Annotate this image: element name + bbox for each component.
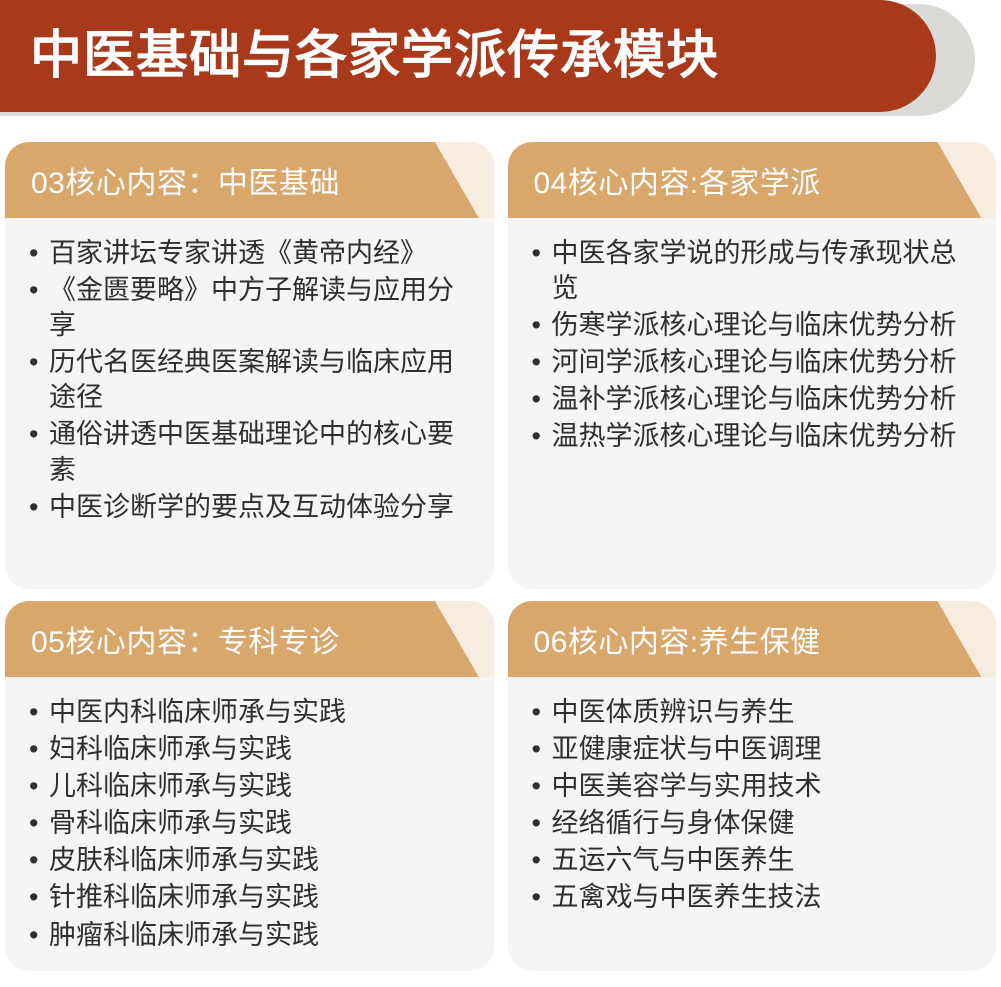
page-banner: 中医基础与各家学派传承模块 bbox=[0, 0, 1001, 118]
card-06-body: 中医体质辨识与养生 亚健康症状与中医调理 中医美容学与实用技术 经络循行与身体保… bbox=[508, 677, 997, 971]
card-05-body: 中医内科临床师承与实践 妇科临床师承与实践 儿科临床师承与实践 骨科临床师承与实… bbox=[5, 677, 494, 971]
card-06-list: 中医体质辨识与养生 亚健康症状与中医调理 中医美容学与实用技术 经络循行与身体保… bbox=[526, 695, 979, 916]
card-05-header: 05核心内容：专科专诊 bbox=[5, 601, 494, 677]
list-item: 伤寒学派核心理论与临床优势分析 bbox=[526, 308, 979, 343]
list-item: 中医内科临床师承与实践 bbox=[23, 695, 476, 730]
list-item: 针推科临床师承与实践 bbox=[23, 880, 476, 915]
list-item: 经络循行与身体保健 bbox=[526, 806, 979, 841]
card-03-header: 03核心内容：中医基础 bbox=[5, 142, 494, 218]
list-item: 历代名医经典医案解读与临床应用途径 bbox=[23, 345, 476, 415]
list-item: 皮肤科临床师承与实践 bbox=[23, 843, 476, 878]
list-item: 温补学派核心理论与临床优势分析 bbox=[526, 382, 979, 417]
page-title: 中医基础与各家学派传承模块 bbox=[30, 30, 719, 82]
list-item: 通俗讲透中医基础理论中的核心要素 bbox=[23, 417, 476, 487]
card-04[interactable]: 04核心内容:各家学派 中医各家学说的形成与传承现状总览 伤寒学派核心理论与临床… bbox=[508, 142, 997, 589]
list-item: 五运六气与中医养生 bbox=[526, 843, 979, 878]
list-item: 亚健康症状与中医调理 bbox=[526, 732, 979, 767]
list-item: 温热学派核心理论与临床优势分析 bbox=[526, 419, 979, 454]
card-03[interactable]: 03核心内容：中医基础 百家讲坛专家讲透《黄帝内经》 《金匮要略》中方子解读与应… bbox=[5, 142, 494, 589]
card-04-body: 中医各家学说的形成与传承现状总览 伤寒学派核心理论与临床优势分析 河间学派核心理… bbox=[508, 218, 997, 589]
banner-bar: 中医基础与各家学派传承模块 bbox=[0, 0, 936, 112]
list-item: 五禽戏与中医养生技法 bbox=[526, 880, 979, 915]
card-03-list: 百家讲坛专家讲透《黄帝内经》 《金匮要略》中方子解读与应用分享 历代名医经典医案… bbox=[23, 236, 476, 525]
list-item: 妇科临床师承与实践 bbox=[23, 732, 476, 767]
list-item: 肿瘤科临床师承与实践 bbox=[23, 918, 476, 953]
cards-grid: 03核心内容：中医基础 百家讲坛专家讲透《黄帝内经》 《金匮要略》中方子解读与应… bbox=[0, 118, 1001, 971]
card-03-header-label: 03核心内容：中医基础 bbox=[31, 142, 340, 218]
list-item: 儿科临床师承与实践 bbox=[23, 769, 476, 804]
card-05-list: 中医内科临床师承与实践 妇科临床师承与实践 儿科临床师承与实践 骨科临床师承与实… bbox=[23, 695, 476, 953]
card-04-list: 中医各家学说的形成与传承现状总览 伤寒学派核心理论与临床优势分析 河间学派核心理… bbox=[526, 236, 979, 455]
card-04-header: 04核心内容:各家学派 bbox=[508, 142, 997, 218]
cards-row-bottom: 05核心内容：专科专诊 中医内科临床师承与实践 妇科临床师承与实践 儿科临床师承… bbox=[0, 601, 1001, 971]
cards-row-top: 03核心内容：中医基础 百家讲坛专家讲透《黄帝内经》 《金匮要略》中方子解读与应… bbox=[0, 142, 1001, 589]
card-04-header-label: 04核心内容:各家学派 bbox=[534, 142, 821, 218]
card-06-header-label: 06核心内容:养生保健 bbox=[534, 601, 821, 677]
list-item: 中医各家学说的形成与传承现状总览 bbox=[526, 236, 979, 306]
list-item: 河间学派核心理论与临床优势分析 bbox=[526, 345, 979, 380]
list-item: 中医美容学与实用技术 bbox=[526, 769, 979, 804]
card-05-header-label: 05核心内容：专科专诊 bbox=[31, 601, 340, 677]
card-05[interactable]: 05核心内容：专科专诊 中医内科临床师承与实践 妇科临床师承与实践 儿科临床师承… bbox=[5, 601, 494, 971]
list-item: 中医诊断学的要点及互动体验分享 bbox=[23, 490, 476, 525]
card-06[interactable]: 06核心内容:养生保健 中医体质辨识与养生 亚健康症状与中医调理 中医美容学与实… bbox=[508, 601, 997, 971]
list-item: 骨科临床师承与实践 bbox=[23, 806, 476, 841]
card-03-body: 百家讲坛专家讲透《黄帝内经》 《金匮要略》中方子解读与应用分享 历代名医经典医案… bbox=[5, 218, 494, 589]
card-06-header: 06核心内容:养生保健 bbox=[508, 601, 997, 677]
list-item: 中医体质辨识与养生 bbox=[526, 695, 979, 730]
list-item: 《金匮要略》中方子解读与应用分享 bbox=[23, 273, 476, 343]
list-item: 百家讲坛专家讲透《黄帝内经》 bbox=[23, 236, 476, 271]
